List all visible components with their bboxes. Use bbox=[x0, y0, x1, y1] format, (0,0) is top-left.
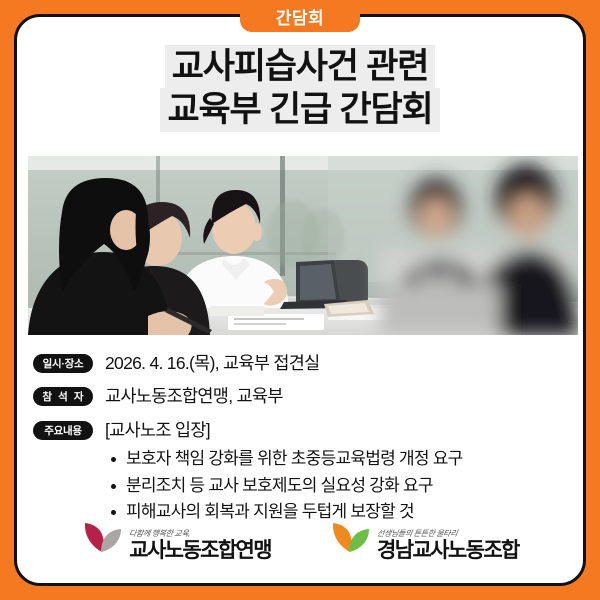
label-attendees: 참 석 자 bbox=[33, 387, 93, 406]
value-datetime-place: 2026. 4. 16.(목), 교육부 접견실 bbox=[105, 350, 320, 376]
logo-gyeongnam-ktu: 선생님들의 튼튼한 울타리 경남교사노동조합 bbox=[329, 522, 519, 561]
title-line-2: 교육부 긴급 간담회 bbox=[160, 88, 439, 131]
poster-root: 교사피습사건 관련 교육부 긴급 간담회 bbox=[0, 0, 600, 600]
leaf-logo-crimson-icon bbox=[81, 522, 123, 559]
info-row-maincontent: 주요내용 [교사노조 입장] 보호자 책임 강화를 위한 초중등교육법령 개정 … bbox=[33, 417, 571, 527]
poster-card: 교사피습사건 관련 교육부 긴급 간담회 bbox=[14, 14, 586, 586]
page-title: 교사피습사건 관련 교육부 긴급 간담회 bbox=[17, 45, 583, 132]
category-badge: 간담회 bbox=[240, 0, 360, 32]
logo-tagline: 다함께 행복한 교육, bbox=[128, 528, 271, 539]
value-main-content: [교사노조 입장] bbox=[105, 417, 463, 443]
footer-logos: 다함께 행복한 교육, 교사노동조합연맹 선생님들의 튼튼한 울타리 경남교사노… bbox=[17, 522, 583, 561]
meeting-photo bbox=[28, 156, 578, 335]
list-item: 분리조치 등 교사 보호제도의 실요성 강화 요구 bbox=[111, 473, 463, 500]
label-main-content: 주요내용 bbox=[33, 421, 93, 440]
value-attendees: 교사노동조합연맹, 교육부 bbox=[105, 383, 283, 409]
logo-tagline: 선생님들의 튼튼한 울타리 bbox=[376, 528, 519, 539]
info-section: 일시·장소 2026. 4. 16.(목), 교육부 접견실 참 석 자 교사노… bbox=[33, 350, 571, 533]
main-content-bullet-list: 보호자 책임 강화를 위한 초중등교육법령 개정 요구 분리조치 등 교사 보호… bbox=[93, 446, 463, 527]
title-line-1: 교사피습사건 관련 bbox=[165, 45, 436, 88]
leaf-logo-orange-icon bbox=[329, 522, 371, 559]
info-row-attendees: 참 석 자 교사노동조합연맹, 교육부 bbox=[33, 383, 571, 409]
meeting-photo-illustration bbox=[28, 156, 578, 335]
logo-ktu-federation: 다함께 행복한 교육, 교사노동조합연맹 bbox=[81, 522, 271, 561]
label-datetime-place: 일시·장소 bbox=[33, 354, 93, 373]
logo-name: 경남교사노동조합 bbox=[377, 540, 519, 561]
info-row-datetime: 일시·장소 2026. 4. 16.(목), 교육부 접견실 bbox=[33, 350, 571, 376]
list-item: 보호자 책임 강화를 위한 초중등교육법령 개정 요구 bbox=[111, 446, 463, 473]
logo-name: 교사노동조합연맹 bbox=[129, 540, 271, 561]
